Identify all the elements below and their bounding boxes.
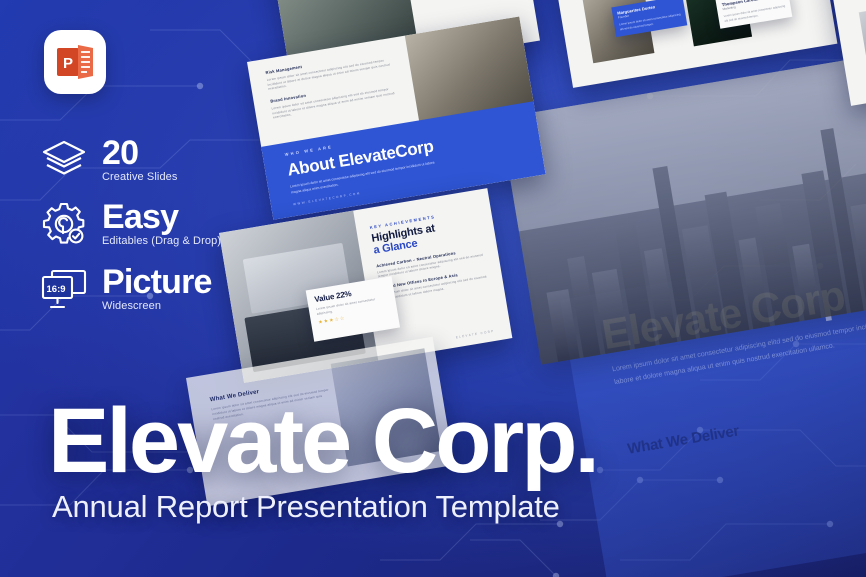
promo-banner: Elevate Corp Lorem ipsum dolor sit amet … <box>0 0 866 577</box>
slide-brandmark: ELEVATE CORP <box>456 329 495 339</box>
feature-creative-slides: 20 Creative Slides <box>40 136 177 184</box>
hero-block: Elevate Corp. Annual Report Presentation… <box>48 402 597 525</box>
gear-wrench-check-icon <box>40 200 88 248</box>
svg-text:P: P <box>63 55 73 72</box>
feature-label: Creative Slides <box>102 171 177 183</box>
feature-value: Easy <box>102 201 221 233</box>
feature-picture-widescreen: 16:9 Picture Widescreen <box>40 265 212 313</box>
person-card[interactable]: Thompson Carolane Marketing Lorem ipsum … <box>716 0 792 28</box>
powerpoint-badge: P <box>44 30 106 94</box>
feature-value: Picture <box>102 266 212 298</box>
backdrop-deliver-heading: What We Deliver <box>626 422 740 457</box>
page-title: Elevate Corp. <box>48 402 597 481</box>
feature-easy-editables: Easy Editables (Drag & Drop) <box>40 200 221 248</box>
aspect-ratio-label: 16:9 <box>47 284 66 295</box>
layers-icon <box>40 136 88 184</box>
powerpoint-icon: P <box>56 44 94 80</box>
feature-label: Widescreen <box>102 300 212 312</box>
feature-value: 20 <box>102 137 177 169</box>
widescreen-monitor-icon: 16:9 <box>40 265 88 313</box>
page-subtitle: Annual Report Presentation Template <box>52 489 597 525</box>
feature-label: Editables (Drag & Drop) <box>102 235 221 247</box>
